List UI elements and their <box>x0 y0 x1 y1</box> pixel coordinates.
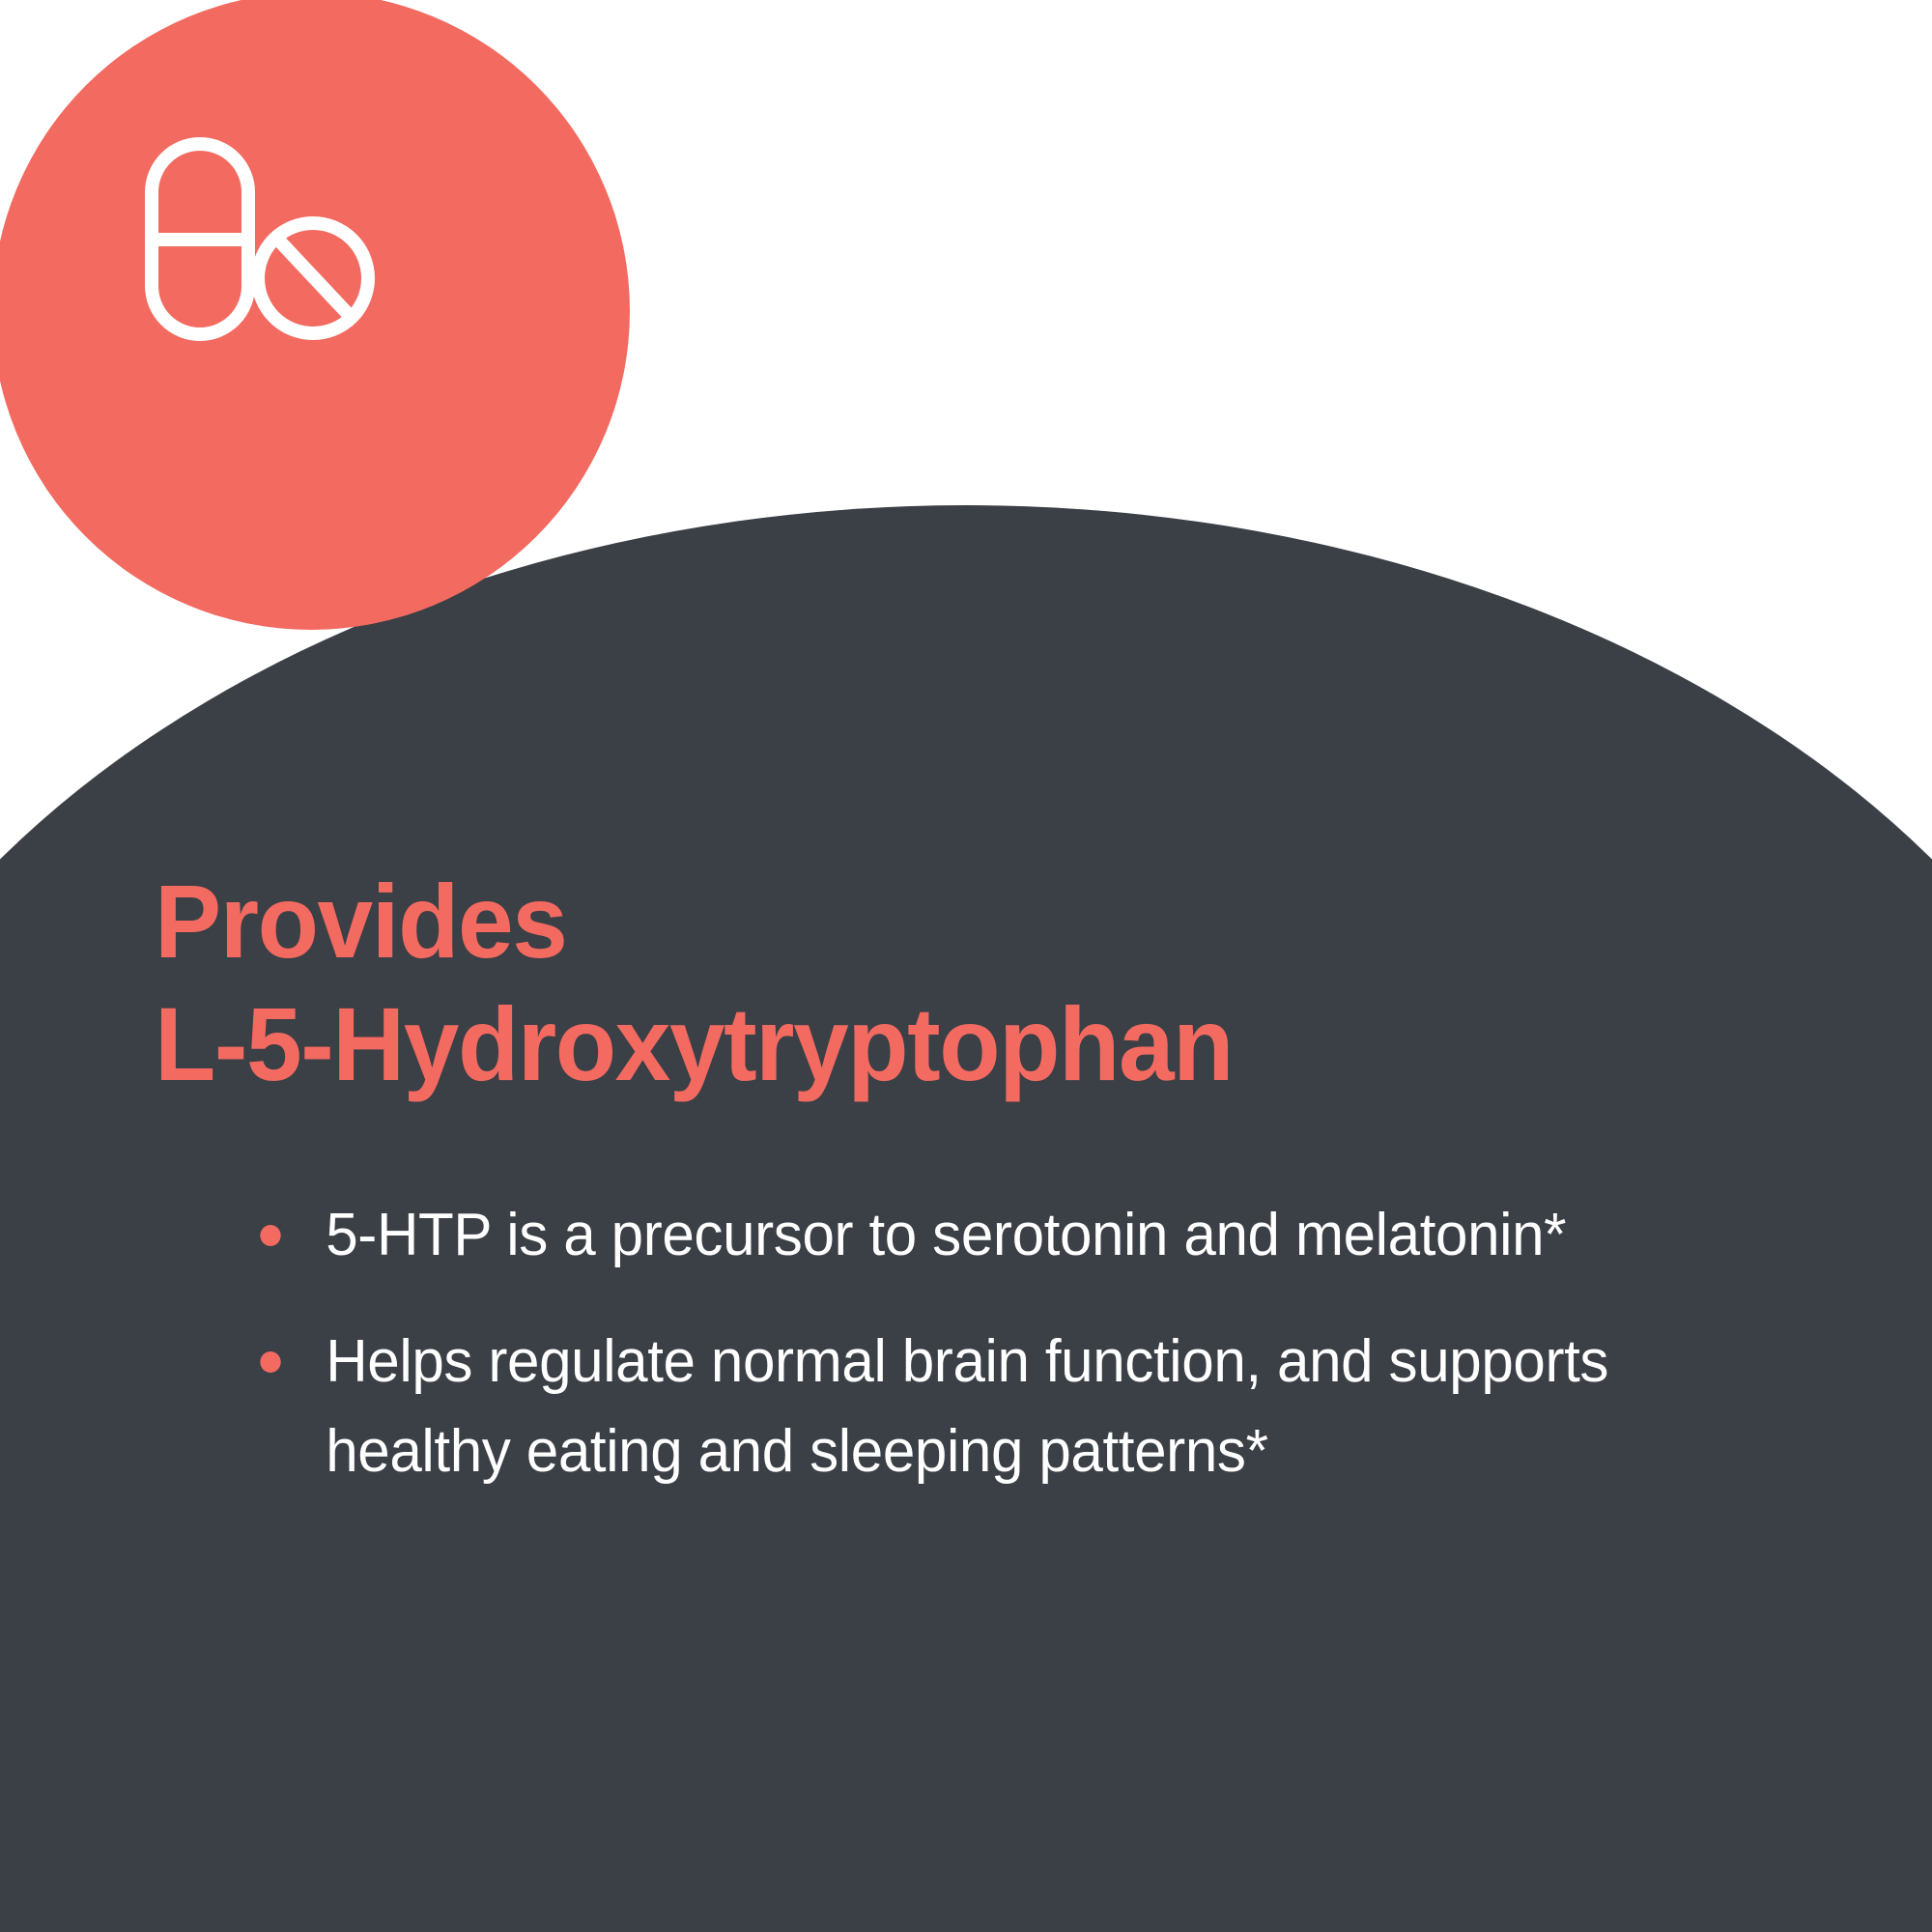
bullet-dot-icon <box>260 1225 280 1246</box>
list-item-label: Helps regulate normal brain function, an… <box>326 1328 1608 1485</box>
benefits-list: 5-HTP is a precursor to serotonin and me… <box>240 1190 1747 1533</box>
bullet-dot-icon <box>260 1351 280 1373</box>
list-item: 5-HTP is a precursor to serotonin and me… <box>240 1190 1701 1280</box>
list-item-label: 5-HTP is a precursor to serotonin and me… <box>326 1202 1566 1268</box>
card-content: Provides L-5-Hydroxytryptophan 5-HTP is … <box>0 0 1932 1932</box>
list-item: Helps regulate normal brain function, an… <box>240 1317 1701 1496</box>
page-title: Provides L-5-Hydroxytryptophan <box>155 860 1638 1106</box>
benefit-card: Provides L-5-Hydroxytryptophan 5-HTP is … <box>0 0 1932 1932</box>
